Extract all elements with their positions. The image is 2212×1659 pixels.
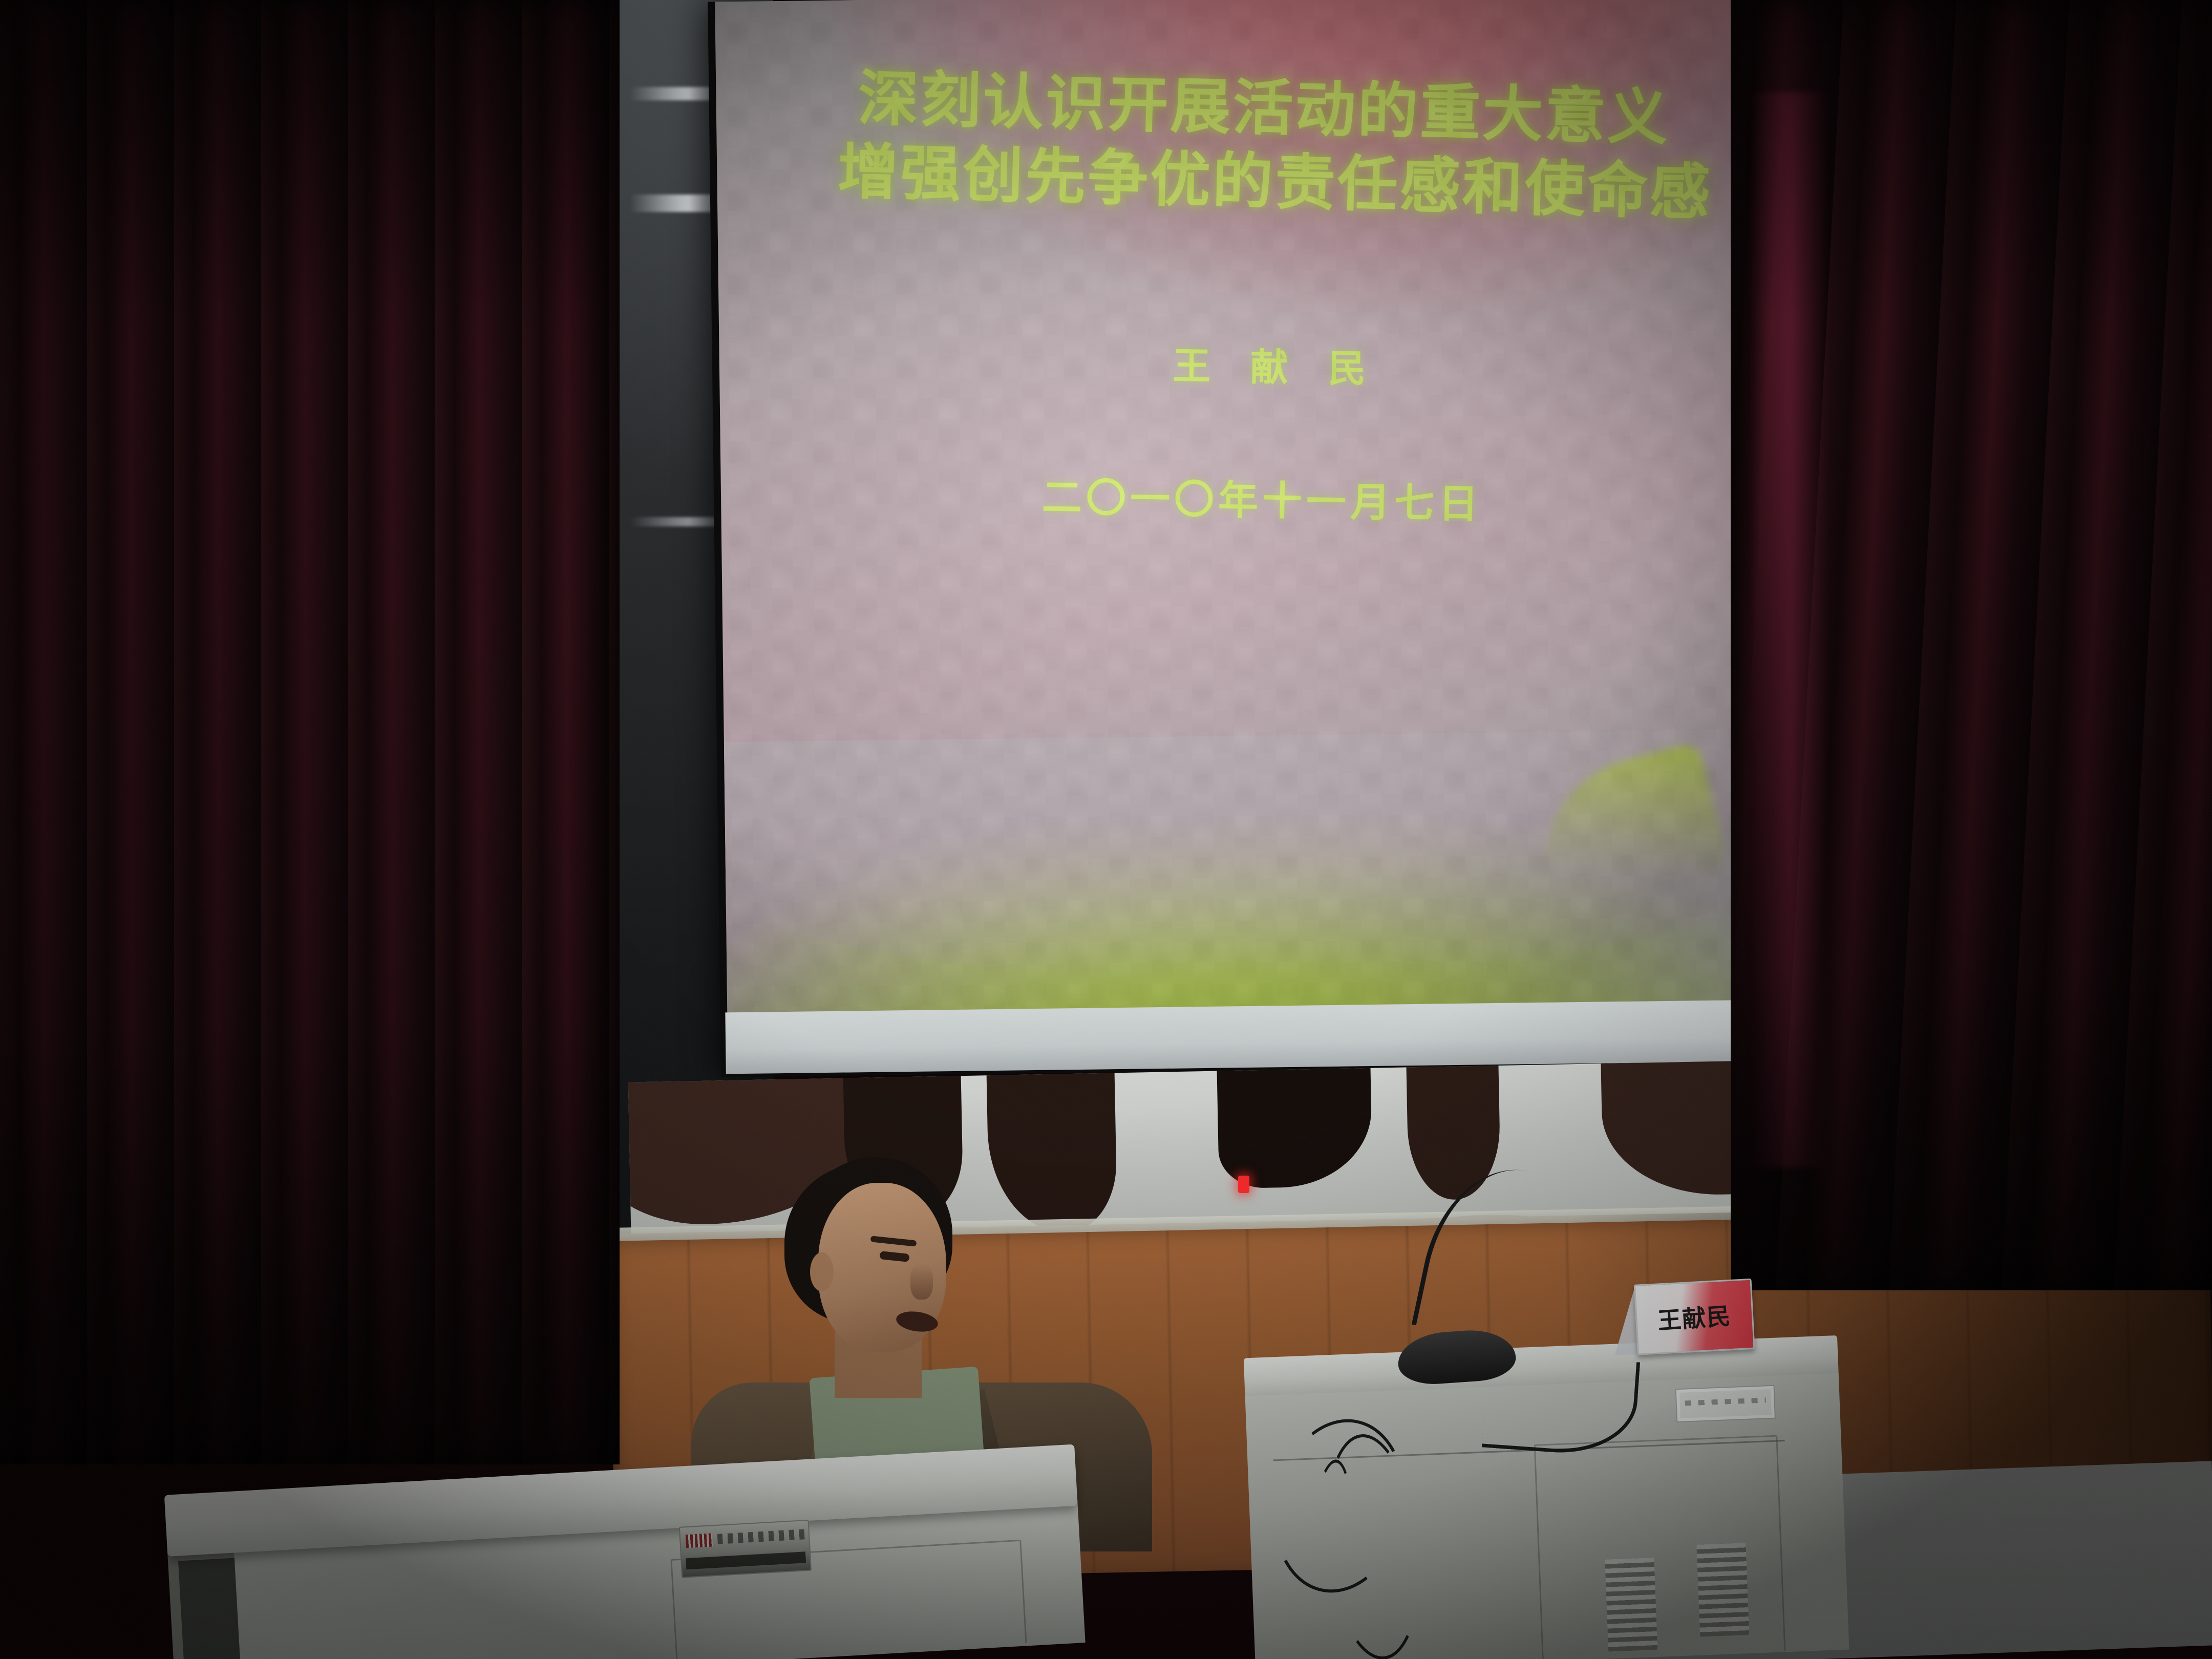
stage-curtain-right	[1731, 0, 2212, 1290]
microphone-gooseneck	[1412, 1154, 1543, 1345]
brand-logo-icon	[686, 1533, 713, 1548]
name-placard: 王献民	[1611, 1277, 1753, 1355]
slide-surface: 深刻认识开展活动的重大意义 增强创先争优的责任感和使命感 王 献 民 二〇一〇年…	[715, 0, 1841, 1059]
brand-plate-bar	[686, 1551, 806, 1569]
desk-side-label	[1675, 1385, 1776, 1422]
speaker-ear	[810, 1252, 834, 1291]
red-indicator-light-icon	[1238, 1176, 1249, 1193]
audio-cables	[1275, 1418, 1490, 1659]
desk-vent-louver	[1605, 1558, 1657, 1652]
stage-curtain-left	[0, 0, 620, 1464]
speaker-nose	[910, 1264, 933, 1300]
curtain-fold-highlight	[1751, 92, 1828, 1167]
slide-title-line-2: 增强创先争优的责任感和使命感	[720, 132, 1830, 233]
brand-text-mark	[717, 1529, 805, 1544]
label-text-mark	[1685, 1397, 1766, 1406]
placard-card: 王献民	[1634, 1279, 1755, 1355]
slide-title-line-1: 深刻认识开展活动的重大意义	[715, 58, 1832, 159]
projection-screen: 深刻认识开展活动的重大意义 增强创先争优的责任感和使命感 王 献 民 二〇一〇年…	[708, 0, 1862, 1077]
slide-date: 二〇一〇年十一月七日	[720, 460, 1803, 535]
photograph-scene: 深刻认识开展活动的重大意义 增强创先争优的责任感和使命感 王 献 民 二〇一〇年…	[0, 0, 2212, 1659]
manufacturer-plate	[679, 1520, 812, 1578]
slide-title: 深刻认识开展活动的重大意义 增强创先争优的责任感和使命感	[715, 58, 1832, 233]
placard-name-text: 王献民	[1656, 1298, 1732, 1336]
slide-text-block: 深刻认识开展活动的重大意义 增强创先争优的责任感和使命感 王 献 民 二〇一〇年…	[716, 65, 1835, 533]
slide-presenter-name: 王 献 民	[719, 328, 1833, 400]
desk-vent-louver	[1696, 1543, 1749, 1637]
gooseneck-microphone[interactable]	[1352, 1178, 1567, 1393]
